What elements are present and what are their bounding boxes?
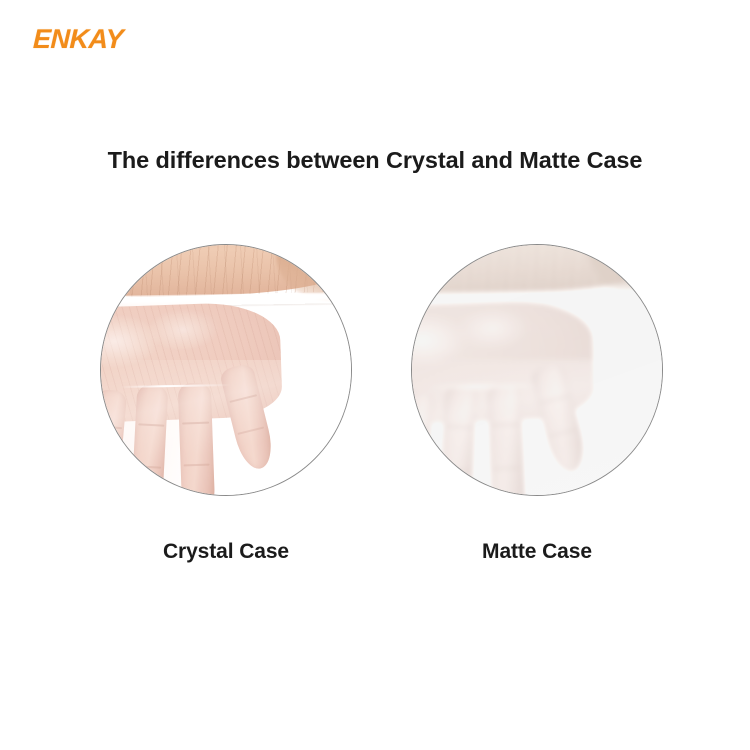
- crystal-photo-content: [101, 245, 351, 495]
- enkay-logo: ENKAY: [33, 26, 123, 53]
- hand-finger-3: [487, 382, 525, 496]
- caption-matte: Matte Case: [411, 540, 663, 564]
- caption-crystal: Crystal Case: [100, 540, 352, 564]
- hand-finger-2: [130, 384, 168, 496]
- page-title: The differences between Crystal and Matt…: [0, 147, 750, 174]
- crystal-case-photo: [100, 244, 352, 496]
- comparison-item-matte: Matte Case: [411, 244, 663, 496]
- matte-photo-content: [411, 244, 663, 496]
- product-comparison-page: ENKAY The differences between Crystal an…: [0, 0, 750, 750]
- hand-finger-3: [177, 382, 214, 496]
- brand-wordmark: ENKAY: [33, 26, 124, 53]
- matte-case-photo: [411, 244, 663, 496]
- comparison-row: Crystal Case: [0, 244, 750, 504]
- comparison-item-crystal: Crystal Case: [100, 244, 352, 496]
- hand-finger-2: [438, 385, 477, 496]
